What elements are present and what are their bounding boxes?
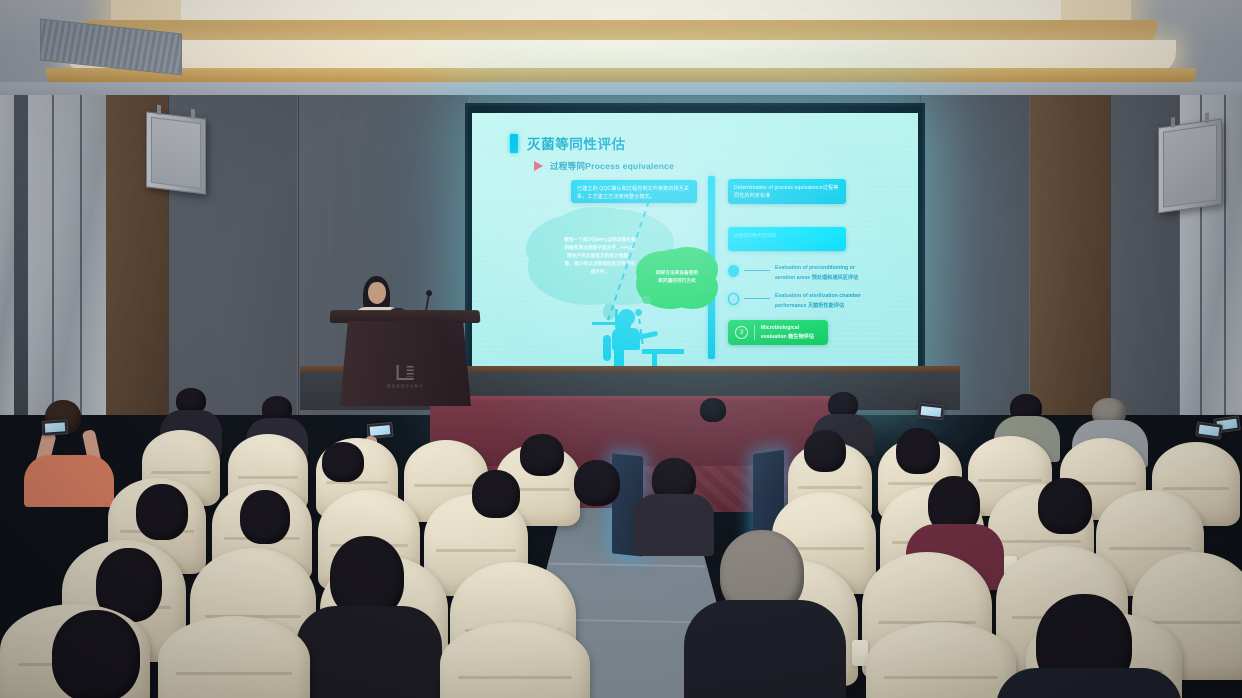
audience-torso — [296, 606, 442, 698]
slide-box-top-left: 已建立的 QQC确认和过程控制文件参数的相互关系，工艺建立方法使用整合模式。 — [571, 180, 697, 203]
thought-bubble-small — [642, 295, 651, 304]
audience-head — [136, 484, 188, 540]
audience-head — [804, 430, 846, 472]
slide-green-pill-text: Microbiological evaluation 微生物评估 — [761, 324, 821, 342]
conference-hall-scene: 灭菌等同性评估 过程等同Process equivalence 已建立的 QQC… — [0, 0, 1242, 698]
bullet-stem — [744, 298, 770, 299]
presentation-slide: 灭菌等同性评估 过程等同Process equivalence 已建立的 QQC… — [472, 113, 918, 394]
slide-title-row: 灭菌等同性评估 — [510, 133, 626, 153]
slide-bullet-2-text: Evaluation of sterilization chamber perf… — [775, 292, 861, 311]
thought-cloud-green: 同样方法来设备使用和灭菌的可行方式 — [642, 249, 712, 305]
audience-head — [700, 398, 726, 422]
slide-box-right-mid: 过程等同性判定项目 — [728, 227, 846, 251]
wood-panel-right — [1030, 95, 1110, 415]
presenter-face — [368, 282, 386, 304]
slide-bullet-1-text: Evaluation of preconditioning or aeratio… — [775, 264, 861, 283]
phone-camera — [1195, 421, 1223, 439]
slide-box-right-top: Determination of process equivalence过程等同… — [728, 179, 846, 204]
audience-chair — [158, 616, 310, 698]
slide-green-pill: 3 Microbiological evaluation 微生物评估 — [728, 320, 828, 345]
phone-camera — [42, 419, 69, 436]
audience-head — [472, 470, 520, 518]
audience-head — [574, 460, 620, 506]
title-bar-icon — [510, 134, 518, 153]
audience-chair — [866, 622, 1016, 698]
audience-chair — [440, 622, 590, 698]
audience-head — [1038, 478, 1092, 534]
wall-pillar-edge — [0, 95, 14, 415]
triangle-bullet-icon — [534, 161, 543, 171]
slide-bullet-1: Evaluation of preconditioning or aeratio… — [728, 264, 861, 283]
lectern-logo-text: 酒店会议中心标识 — [387, 383, 424, 388]
bullet-dot-icon — [728, 293, 739, 305]
audience-torso — [996, 668, 1182, 698]
lectern: 酒店会议中心标识 — [330, 310, 480, 408]
audience-torso — [24, 455, 114, 507]
phone-camera — [917, 403, 944, 421]
audience-head — [322, 442, 364, 482]
wall-speaker-right — [1158, 119, 1222, 214]
audience-torso — [684, 600, 846, 698]
audience-head — [896, 428, 940, 474]
divider — [754, 325, 755, 340]
audience-head — [52, 610, 140, 698]
laptop-icon — [592, 309, 618, 325]
projection-screen: 灭菌等同性评估 过程等同Process equivalence 已建立的 QQC… — [465, 103, 925, 403]
wall-speaker-left — [146, 111, 206, 194]
thought-cloud-green-text: 同样方法来设备使用和灭菌的可行方式 — [654, 269, 700, 285]
number-badge-icon: 3 — [735, 326, 748, 339]
bullet-dot-icon — [728, 265, 739, 277]
slide-subtitle-row: 过程等同Process equivalence — [534, 160, 674, 172]
audience-head — [240, 490, 290, 544]
slide-title: 灭菌等同性评估 — [527, 133, 626, 153]
hotel-logo-icon — [397, 365, 414, 380]
slide-subtitle: 过程等同Process equivalence — [550, 160, 674, 172]
lectern-logo: 酒店会议中心标识 — [387, 365, 424, 388]
lectern-body: 酒店会议中心标识 — [340, 321, 471, 406]
slide-bullet-2: Evaluation of sterilization chamber perf… — [728, 292, 861, 311]
ceiling — [0, 0, 1242, 108]
bullet-stem — [744, 270, 770, 271]
wall-pillar-left — [28, 95, 106, 415]
audience-torso — [634, 494, 714, 556]
audience-head — [520, 434, 564, 476]
